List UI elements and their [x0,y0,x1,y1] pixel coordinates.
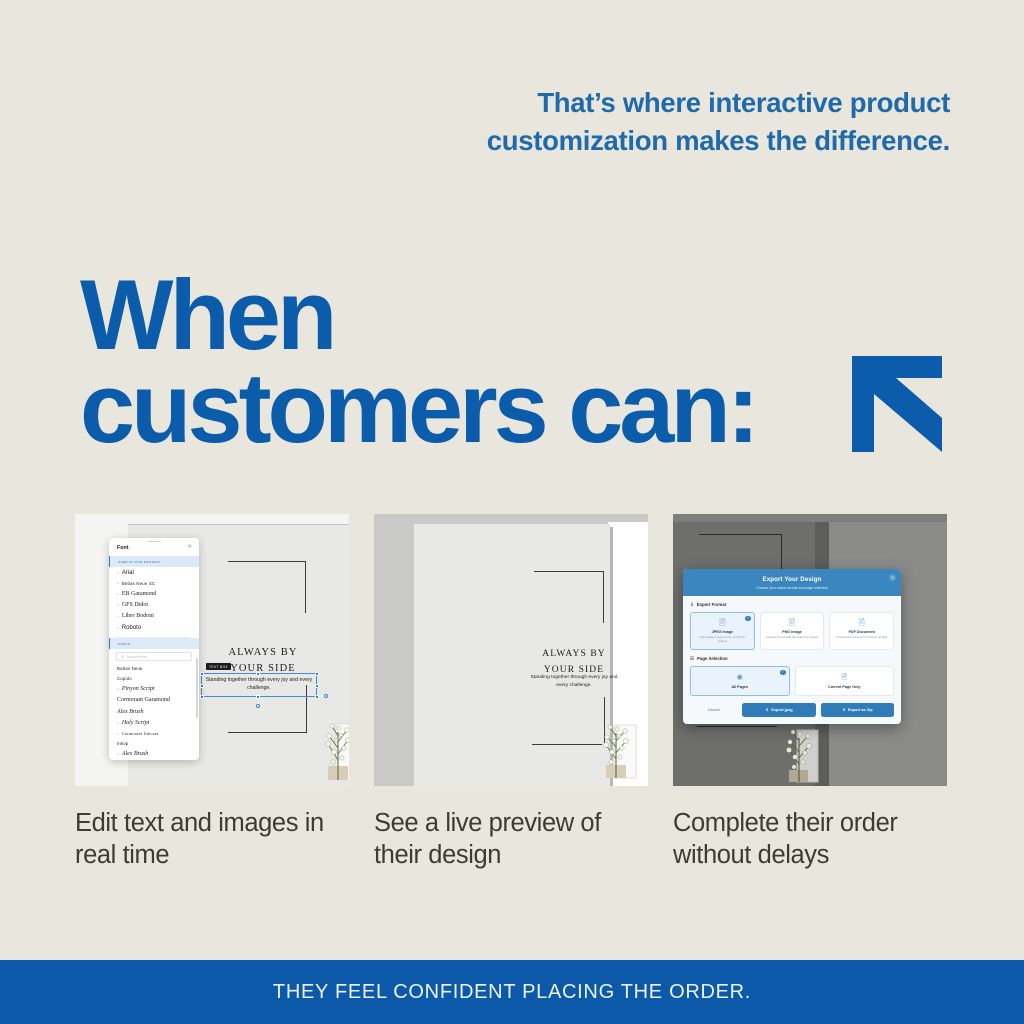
format-option-pdf[interactable]: 🖹 PDF Document Professional document for… [829,612,894,650]
arrow-up-left-icon [848,352,952,456]
format-option-description: Lossless format with transparency suppor… [765,636,820,640]
all-fonts-list[interactable]: Bebas Neue Cupido ● Pinyon Script Cormor… [109,663,199,760]
decorative-frame-bottom [532,744,602,745]
resize-handle-bl[interactable] [200,695,204,699]
font-name: Pinyon Script [122,686,155,692]
dialog-subtitle: Choose your export format and page selec… [691,586,893,590]
close-icon[interactable]: ✕ [187,545,192,551]
dialog-body: ⇩ Export Format ✓ 🖹 JPEG Image High qual… [683,596,901,724]
format-option-name: PDF Document [834,630,889,634]
page-option-name: Current Page Only [800,685,890,689]
page-option-current-page[interactable]: 🖹 Current Page Only [795,666,895,696]
font-name: Libre Bodoni [122,613,154,619]
check-icon: ✓ [780,670,786,676]
dialog-title: Export Your Design [691,576,893,583]
font-name: Alex Brush [122,751,149,757]
list-item[interactable]: ● Bebas Neue SC [109,578,199,588]
list-item[interactable]: ● Libre Bodoni [109,611,199,622]
format-option-name: PNG Image [765,630,820,634]
screenshot-editor-font-panel[interactable]: ALWAYS BY YOUR SIDE TEXT BOX Stand [75,514,349,786]
bullet-icon: ● [117,721,119,725]
page-selection-section-label: ☵ Page Selection [690,656,894,662]
page-option-name: All Pages [695,685,785,689]
section-label-text: Export Format [697,602,726,607]
font-panel-section-fonts: FONTS [109,638,199,649]
pages-icon: ☵ [690,656,694,662]
dialog-footer: Cancel ⇩ Export jpeg ⇩ Export as Zip [690,703,894,717]
download-icon: ⇩ [842,707,845,712]
export-dialog[interactable]: Export Your Design Choose your export fo… [683,569,901,724]
export-format-options: ✓ 🖹 JPEG Image High quality image format… [690,612,894,650]
close-icon[interactable]: ✕ [889,574,896,581]
kicker-text: That’s where interactive product customi… [360,84,950,160]
resize-handle-tl[interactable] [200,672,204,676]
resize-handle-tc[interactable] [256,672,260,676]
screenshot-export-dialog[interactable]: Export Your Design Choose your export fo… [673,514,947,786]
font-name: Arial [122,570,134,576]
download-icon: ⇩ [765,707,768,712]
font-panel[interactable]: Font ✕ USED IN THIS PROJECT ● Arial ● Be… [109,538,199,760]
font-panel-title: Font [117,545,128,551]
bullet-icon: ● [117,687,119,691]
font-name: EB Garamond [122,591,157,597]
canvas-heading[interactable]: ALWAYS BY YOUR SIDE [208,645,318,677]
format-option-name: JPEG Image [695,630,750,634]
canvas-heading-line-1: ALWAYS BY [524,646,624,662]
footer-text: THEY FEEL CONFIDENT PLACING THE ORDER. [273,981,751,1004]
font-panel-section-used: USED IN THIS PROJECT [109,556,199,567]
export-zip-button[interactable]: ⇩ Export as Zip [821,703,894,717]
screenshot-live-preview[interactable]: ALWAYS BY YOUR SIDE Standing together th… [374,514,648,786]
export-zip-label: Export as Zip [848,707,873,712]
list-item[interactable]: ● EB Garamond [109,588,199,599]
font-name: Bebas Neue [117,666,143,671]
export-format-section-label: ⇩ Export Format [690,602,894,608]
panel-drag-handle[interactable] [147,541,161,543]
export-jpeg-button[interactable]: ⇩ Export jpeg [742,703,815,717]
list-item[interactable]: ● Cormorant Unicase [109,728,199,738]
canvas-body-text: Standing together through every joy and … [524,674,624,689]
file-icon: 🖹 [800,674,890,681]
bullet-icon: ● [117,571,119,575]
decorative-frame-bottom [228,732,306,733]
format-option-description: Professional document format for printin… [834,636,889,640]
format-option-png[interactable]: 🖹 PNG Image Lossless format with transpa… [760,612,825,650]
file-pdf-icon: 🖹 [834,619,889,627]
list-item[interactable]: ● Alex Brush [109,749,199,760]
dialog-header: Export Your Design Choose your export fo… [683,569,901,596]
font-name: Holy Script [122,720,150,726]
list-item[interactable]: ● Arial [109,567,199,578]
list-item[interactable]: ● Holy Script [109,717,199,728]
used-fonts-list[interactable]: ● Arial ● Bebas Neue SC ● EB Garamond ● … [109,567,199,633]
feature-cards: ALWAYS BY YOUR SIDE TEXT BOX Stand [75,514,949,871]
decorative-frame-top [228,561,306,613]
card-caption: Complete their order without delays [673,808,947,871]
bullet-icon: ● [117,626,119,630]
page-option-all-pages[interactable]: ✓ ◉ All Pages [690,666,790,696]
list-item[interactable]: Cupido [109,674,199,684]
font-name: Roboto [122,625,141,631]
font-name: Cormorant Unicase [122,731,159,736]
bullet-icon: ● [117,592,119,596]
list-item[interactable]: ● Roboto [109,622,199,633]
bullet-icon: ● [117,581,119,585]
list-item[interactable]: Inkop [109,739,199,749]
format-option-jpeg[interactable]: ✓ 🖹 JPEG Image High quality image format… [690,612,755,650]
resize-handle-br[interactable] [315,695,319,699]
bullet-icon: ● [117,603,119,607]
selection-label-badge: TEXT BOX [206,663,231,670]
export-jpeg-label: Export jpeg [771,707,792,712]
search-input[interactable]: ⚲ Search fonts... [116,652,192,661]
file-image-icon: 🖹 [695,619,750,627]
format-option-description: High quality image format, perfect for s… [695,636,750,644]
font-name: Alex Brush [117,709,144,715]
bullet-icon: ● [117,614,119,618]
resize-handle-tr[interactable] [315,672,319,676]
rotate-handle-right[interactable] [324,694,328,698]
card-caption: See a live preview of their design [374,808,648,871]
list-item[interactable]: Cormorant Garamond [109,695,199,706]
list-item[interactable]: Alex Brush [109,706,199,717]
plant-sticker-image [777,714,821,786]
feature-card-1: ALWAYS BY YOUR SIDE TEXT BOX Stand [75,514,349,871]
design-canvas[interactable]: ALWAYS BY YOUR SIDE Standing together th… [414,524,610,786]
list-item[interactable]: ● Pinyon Script [109,684,199,695]
page-selection-options: ✓ ◉ All Pages 🖹 Current Page Only [690,666,894,696]
footer-bar: THEY FEEL CONFIDENT PLACING THE ORDER. [0,960,1024,1024]
font-name: Cupido [117,676,132,681]
search-placeholder: Search fonts... [126,655,149,659]
font-name: Bebas Neue SC [122,581,155,586]
scrollbar[interactable] [196,658,197,718]
resize-handle-bc[interactable] [256,695,260,699]
card-caption: Edit text and images in real time [75,808,349,871]
file-image-icon: 🖹 [765,619,820,627]
headline-line-2: customers can: [80,361,756,454]
page-title: When customers can: [80,268,756,454]
check-icon: ✓ [745,616,751,622]
font-name: Inkop [117,741,129,746]
list-item[interactable]: Bebas Neue [109,663,199,673]
cancel-button[interactable]: Cancel [690,703,737,716]
search-icon: ⚲ [121,654,124,659]
canvas-heading-line-1: ALWAYS BY [208,645,318,661]
resize-handle-mr[interactable] [315,684,319,688]
plant-sticker-image [594,707,639,782]
canvas-body-text[interactable]: Standing together through every joy and … [203,676,315,692]
download-icon: ⇩ [690,602,694,608]
font-name: Cormorant Garamond [117,697,170,703]
layers-icon: ◉ [695,674,785,681]
decorative-frame-bottom [697,726,777,727]
bullet-icon: ● [117,752,119,756]
decorative-frame-top [534,571,604,623]
plant-sticker-image [314,704,349,784]
feature-card-2: ALWAYS BY YOUR SIDE Standing together th… [374,514,648,871]
feature-card-3: Export Your Design Choose your export fo… [673,514,947,871]
rotate-handle-bottom[interactable] [256,704,260,708]
list-item[interactable]: ● GFS Didot [109,600,199,611]
bullet-icon: ● [117,732,119,736]
font-name: GFS Didot [122,602,148,608]
section-label-text: Page Selection [697,656,728,661]
